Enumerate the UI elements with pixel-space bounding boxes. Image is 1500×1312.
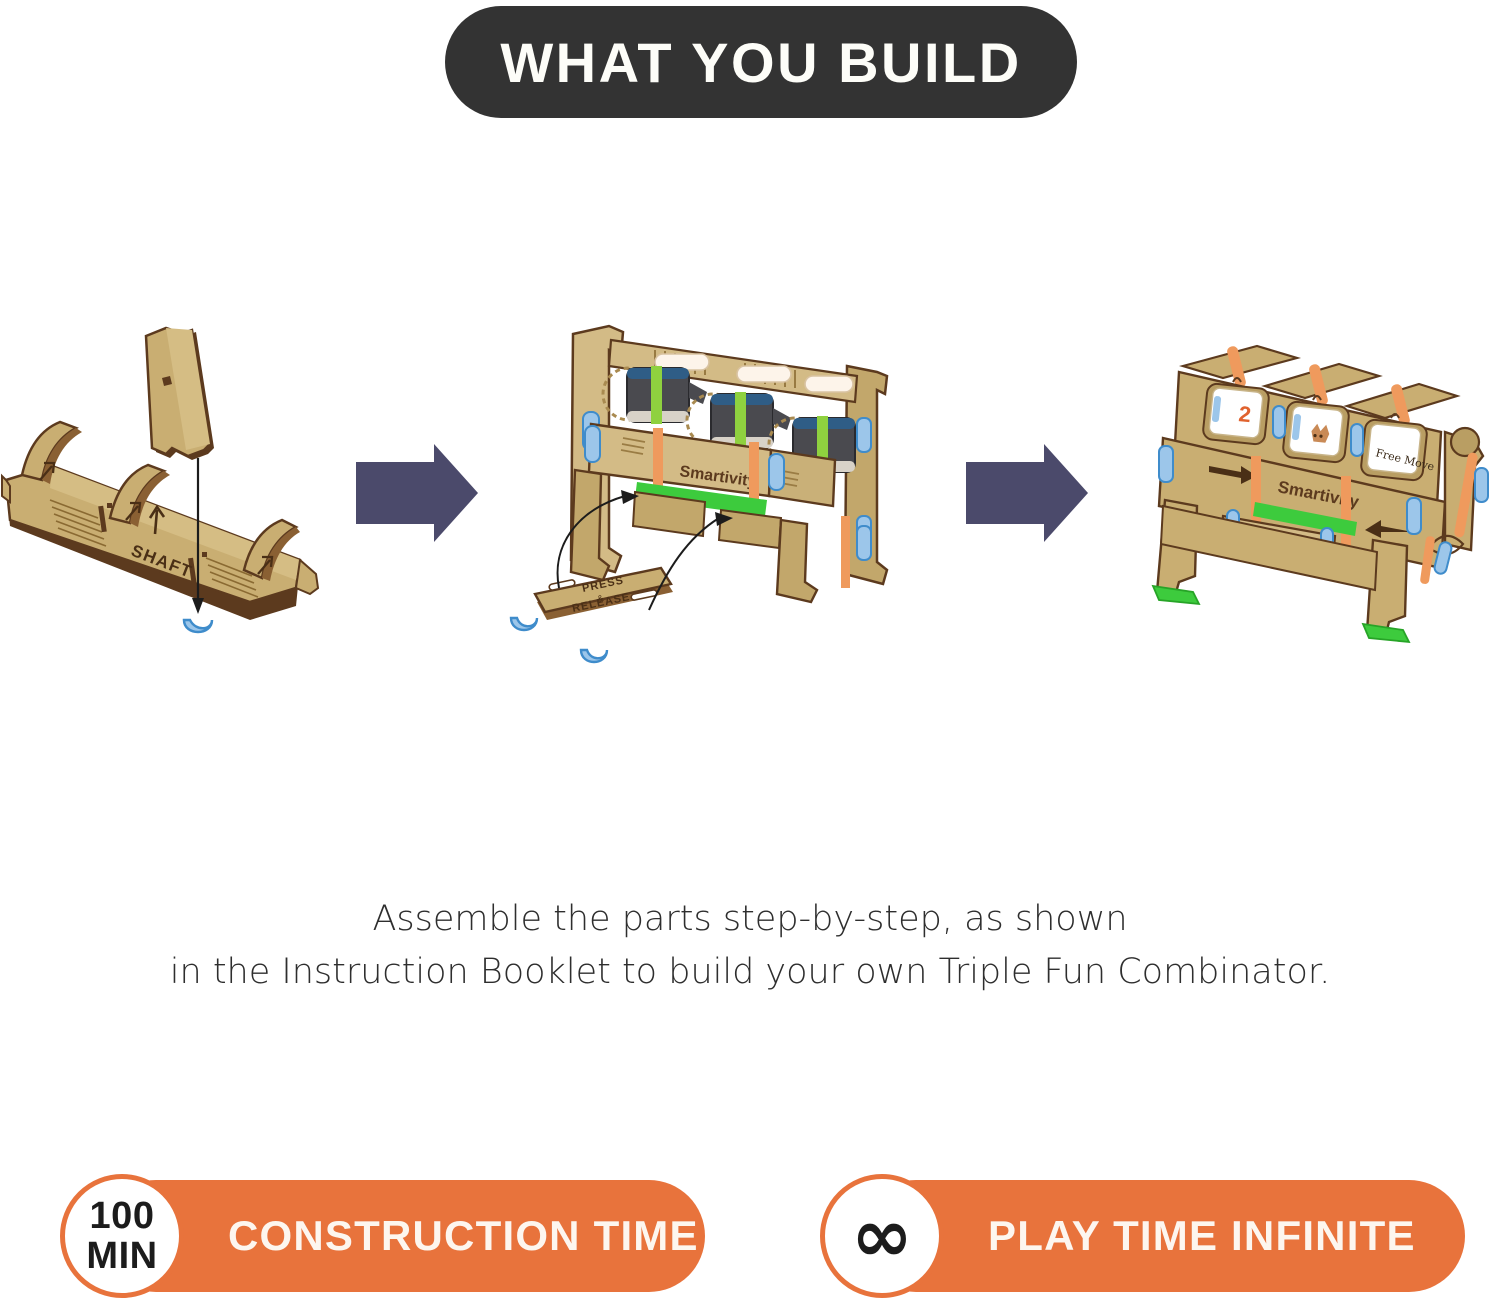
page-title: WHAT YOU BUILD — [500, 30, 1021, 95]
play-time-circle: ∞ — [820, 1174, 944, 1298]
vertical-panel-icon — [146, 328, 214, 460]
infinity-icon: ∞ — [851, 1199, 913, 1273]
blue-clip-icon — [184, 620, 212, 632]
description-line-2: in the Instruction Booklet to build your… — [0, 946, 1500, 999]
right-arrow-icon — [966, 444, 1088, 542]
construction-time-label: CONSTRUCTION TIME — [228, 1212, 699, 1260]
orange-band-icon — [841, 516, 850, 588]
construction-time-value: 100 — [90, 1196, 155, 1236]
blue-clip-icon — [511, 618, 537, 630]
construction-time-circle: 100 MIN — [60, 1174, 184, 1298]
description-line-1: Assemble the parts step-by-step, as show… — [0, 893, 1500, 946]
step-arrow-2 — [962, 438, 1092, 548]
step-2-illustration: Smartivity — [505, 320, 915, 680]
step-arrow-1 — [352, 438, 482, 548]
play-time-label: PLAY TIME INFINITE — [988, 1212, 1416, 1260]
build-steps-strip: SHAFT — [0, 320, 1500, 680]
card-1-label: 2 — [1237, 401, 1252, 427]
description-text: Assemble the parts step-by-step, as show… — [0, 893, 1500, 999]
badge-play-time: ∞ PLAY TIME INFINITE — [860, 1180, 1465, 1292]
right-arrow-icon — [356, 444, 478, 542]
info-badges: 100 MIN CONSTRUCTION TIME ∞ PLAY TIME IN… — [0, 1172, 1500, 1302]
badge-construction-time: 100 MIN CONSTRUCTION TIME — [100, 1180, 705, 1292]
page-title-pill: WHAT YOU BUILD — [445, 6, 1077, 118]
blue-clip-icon — [581, 650, 607, 662]
construction-time-unit: MIN — [86, 1236, 157, 1276]
step-1-illustration: SHAFT — [0, 320, 330, 680]
step-3-illustration: 2 Free Move — [1145, 320, 1500, 680]
